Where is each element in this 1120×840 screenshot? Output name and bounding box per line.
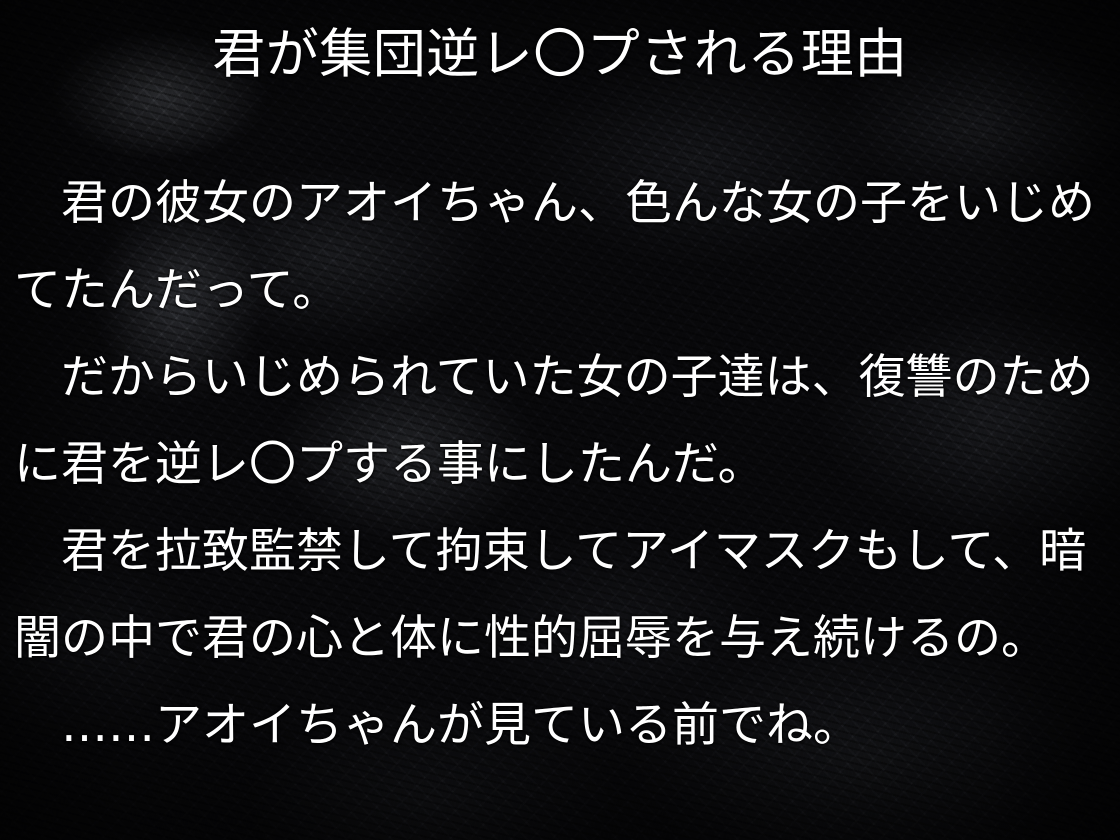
body-paragraph: 君を拉致監禁して拘束してアイマスクもして、暗闇の中で君の心と体に性的屈辱を与え続… — [14, 508, 1106, 682]
slide-title: 君が集団逆レ〇プされる理由 — [0, 26, 1120, 84]
slide-content: 君が集団逆レ〇プされる理由 君の彼女のアオイちゃん、色んな女の子をいじめてたんだ… — [0, 0, 1120, 840]
slide-body: 君の彼女のアオイちゃん、色んな女の子をいじめてたんだって。 だからいじめられてい… — [14, 160, 1106, 769]
body-paragraph: だからいじめられていた女の子達は、復讐のために君を逆レ〇プする事にしたんだ。 — [14, 334, 1106, 508]
body-paragraph: ……アオイちゃんが見ている前でね。 — [14, 682, 1106, 769]
body-paragraph: 君の彼女のアオイちゃん、色んな女の子をいじめてたんだって。 — [14, 160, 1106, 334]
text-slide: 君が集団逆レ〇プされる理由 君の彼女のアオイちゃん、色んな女の子をいじめてたんだ… — [0, 0, 1120, 840]
